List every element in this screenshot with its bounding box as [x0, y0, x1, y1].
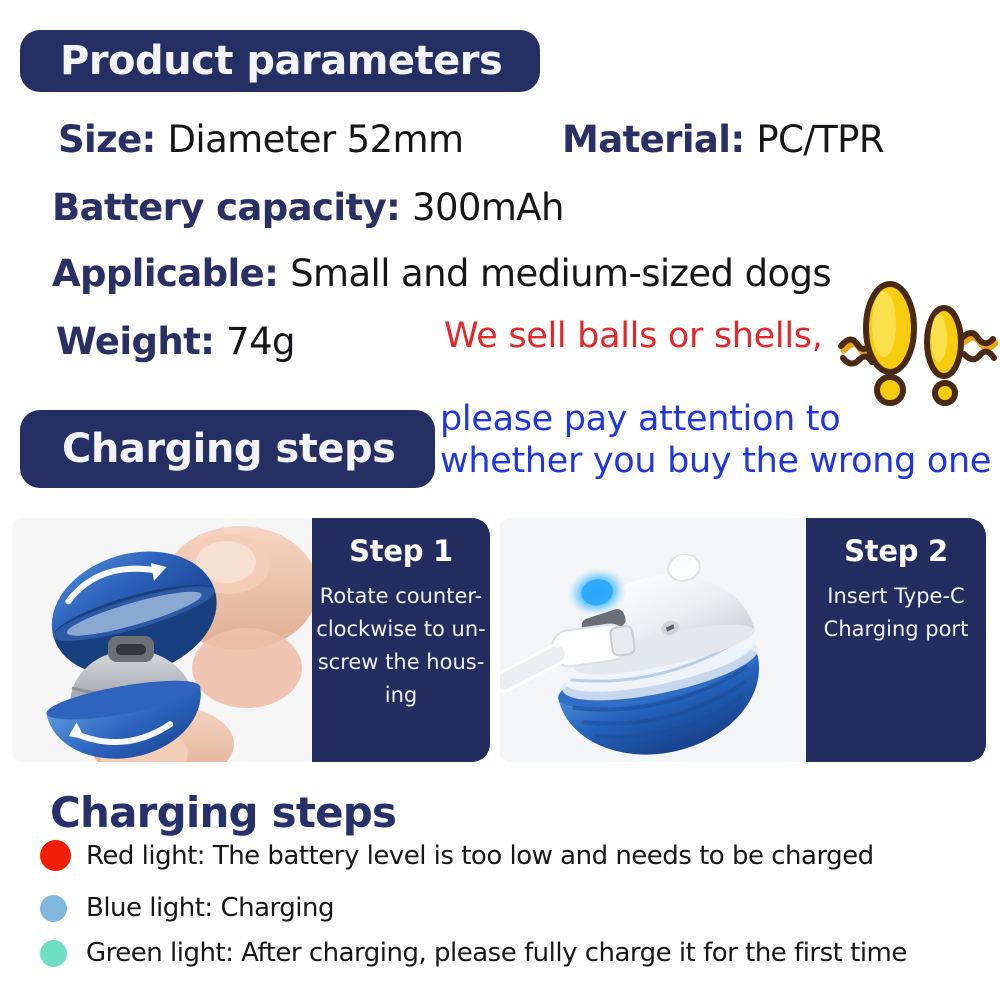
spec-label-weight: Weight:: [56, 320, 214, 363]
step-2-photo: [500, 518, 806, 762]
spec-row-applicable: Applicable: Small and medium-sized dogs: [52, 252, 831, 295]
legend-text-blue-light: Blue light: Charging: [86, 893, 334, 923]
step-card-2: Step 2 Insert Type-C Charging port: [500, 518, 986, 762]
product-infographic: Product parameters Size: Diameter 52mm M…: [0, 0, 1000, 1000]
step-2-description: Insert Type-C Charging port: [824, 580, 969, 646]
step-2-text-panel: Step 2 Insert Type-C Charging port: [806, 518, 986, 762]
spec-row-material: Material: PC/TPR: [562, 118, 884, 161]
product-parameters-heading-badge: Product parameters: [20, 30, 540, 92]
step-2-desc-line-1: Insert Type-C: [824, 580, 969, 613]
step-1-desc-line-3: screw the hous-: [316, 646, 485, 679]
legend-row-red-light: Red light: The battery level is too low …: [40, 840, 874, 871]
spec-value-material: PC/TPR: [756, 118, 884, 161]
legend-text-green-light: Green light: After charging, please full…: [86, 938, 907, 968]
step-1-desc-line-4: ing: [316, 679, 485, 712]
step-1-title: Step 1: [349, 534, 453, 568]
spec-label-size: Size:: [58, 118, 156, 161]
charging-steps-heading-text: Charging steps: [62, 426, 395, 472]
legend-row-green-light: Green light: After charging, please full…: [40, 938, 907, 968]
spec-value-size: Diameter 52mm: [168, 118, 464, 161]
product-parameters-heading-text: Product parameters: [60, 38, 502, 84]
spec-value-applicable: Small and medium-sized dogs: [290, 252, 831, 295]
green-light-dot-icon: [40, 940, 67, 967]
spec-label-material: Material:: [562, 118, 745, 161]
step-card-1: Step 1 Rotate counter- clockwise to un- …: [12, 518, 490, 762]
charging-steps-heading-badge: Charging steps: [20, 410, 435, 488]
step-1-desc-line-2: clockwise to un-: [316, 613, 485, 646]
spec-row-size: Size: Diameter 52mm: [58, 118, 463, 161]
step-2-title: Step 2: [844, 534, 948, 568]
spec-row-weight: Weight: 74g: [56, 320, 295, 363]
exclamation-marks-icon: [838, 280, 1000, 415]
step-1-desc-line-1: Rotate counter-: [316, 580, 485, 613]
legend-heading: Charging steps: [50, 788, 396, 837]
spec-value-battery-capacity: 300mAh: [412, 186, 564, 229]
warning-text-red: We sell balls or shells,: [444, 316, 823, 356]
blue-light-dot-icon: [40, 895, 67, 922]
step-1-photo: [12, 518, 312, 762]
spec-label-battery-capacity: Battery capacity:: [52, 186, 400, 229]
spec-label-applicable: Applicable:: [52, 252, 278, 295]
spec-value-weight: 74g: [226, 320, 295, 363]
warning-text-blue-line-2: whether you buy the wrong one: [440, 440, 991, 482]
step-1-description: Rotate counter- clockwise to un- screw t…: [316, 580, 485, 712]
step-1-text-panel: Step 1 Rotate counter- clockwise to un- …: [312, 518, 490, 762]
legend-row-blue-light: Blue light: Charging: [40, 893, 334, 923]
red-light-dot-icon: [40, 840, 71, 871]
legend-text-red-light: Red light: The battery level is too low …: [86, 841, 874, 871]
spec-row-battery-capacity: Battery capacity: 300mAh: [52, 186, 564, 229]
step-2-desc-line-2: Charging port: [824, 613, 969, 646]
